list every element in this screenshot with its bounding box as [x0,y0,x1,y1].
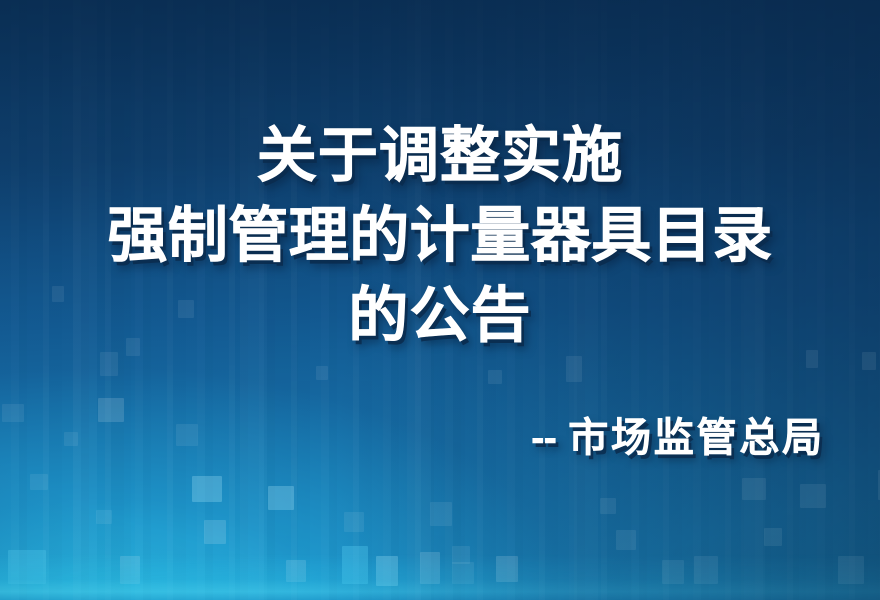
title-line-3: 的公告 [0,286,880,346]
announcement-poster: 关于调整实施 强制管理的计量器具目录 的公告 --市场监管总局 [0,0,880,600]
byline-source: 市场监管总局 [568,416,825,460]
byline-dashes: -- [531,416,556,460]
title-line-1: 关于调整实施 [0,126,880,186]
poster-byline: --市场监管总局 [531,405,825,463]
poster-title: 关于调整实施 强制管理的计量器具目录 的公告 [0,126,880,346]
title-line-2: 强制管理的计量器具目录 [0,206,880,266]
